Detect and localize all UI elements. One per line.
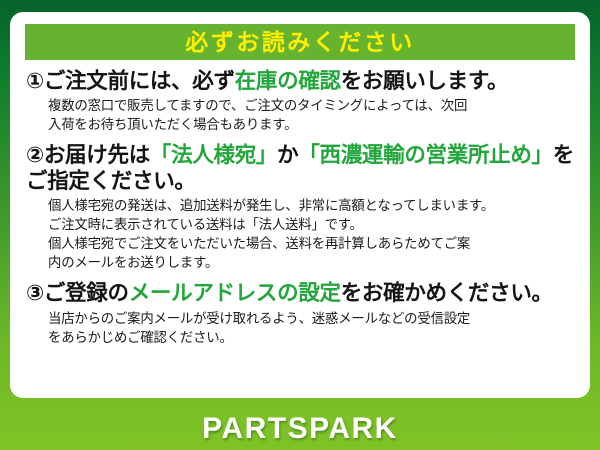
heading-text: ご注文前には、必ず [44, 69, 235, 93]
notice-item-body: 個人様宅宛の発送は、追加送料が発生し、非常に高額となってしまいます。 ご注文時に… [48, 196, 574, 272]
notice-item-list: ①ご注文前には、必ず在庫の確認をお願いします。複数の窓口で販売してますので、ご注… [24, 69, 576, 347]
heading-highlight: 「法人様宛」 [150, 143, 277, 167]
notice-card: 必ずお読みください ①ご注文前には、必ず在庫の確認をお願いします。複数の窓口で販… [10, 12, 590, 398]
heading-highlight: メールアドレスの設定 [129, 281, 341, 305]
notice-item-body: 当店からのご案内メールが受け取れるよう、迷惑メールなどの受信設定 をあらかじめご… [48, 309, 574, 347]
brand-footer: PARTSPARK [0, 414, 600, 444]
heading-text: か [277, 143, 298, 167]
notice-banner: 必ずお読みください ①ご注文前には、必ず在庫の確認をお願いします。複数の窓口で販… [0, 0, 600, 450]
notice-item-marker: ② [26, 143, 44, 167]
heading-highlight: 「西濃運輸の営業所止め」 [298, 143, 552, 167]
partspark-logo: PARTSPARK [202, 414, 398, 444]
notice-item-marker: ③ [26, 281, 44, 305]
notice-header-title: 必ずお読みください [185, 31, 415, 54]
notice-item: ②お届け先は「法人様宛」か「西濃運輸の営業所止め」をご指定ください。個人様宅宛の… [26, 143, 574, 272]
heading-text: お届け先は [44, 143, 150, 167]
heading-text: をお確かめください。 [341, 281, 553, 305]
notice-item-heading: ②お届け先は「法人様宛」か「西濃運輸の営業所止め」をご指定ください。 [26, 143, 574, 194]
notice-item-body: 複数の窓口で販売してますので、ご注文のタイミングによっては、次回 入荷をお待ち頂… [48, 96, 574, 134]
notice-item-heading: ③ご登録のメールアドレスの設定をお確かめください。 [26, 281, 574, 306]
notice-item-heading: ①ご注文前には、必ず在庫の確認をお願いします。 [26, 69, 574, 94]
notice-item: ③ご登録のメールアドレスの設定をお確かめください。当店からのご案内メールが受け取… [26, 281, 574, 346]
heading-text: ご登録の [44, 281, 129, 305]
heading-highlight: 在庫の確認 [235, 69, 341, 93]
notice-item-marker: ① [26, 69, 44, 93]
notice-item: ①ご注文前には、必ず在庫の確認をお願いします。複数の窓口で販売してますので、ご注… [26, 69, 574, 134]
heading-text: をお願いします。 [341, 69, 508, 93]
notice-header-band: 必ずお読みください [25, 24, 575, 60]
